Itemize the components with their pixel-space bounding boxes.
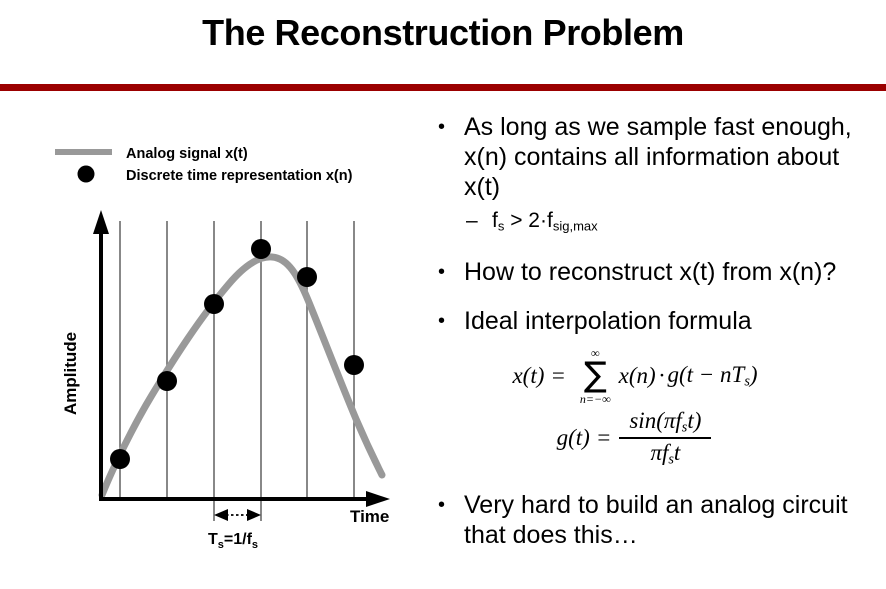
formula-xn: x(n)	[619, 363, 656, 389]
equals-sign: =	[596, 425, 612, 451]
bullet-item-very-hard: • Very hard to build an analog circuit t…	[432, 490, 882, 550]
bullet-marker: •	[432, 112, 464, 142]
sub-bullet-nyquist: – fs > 2·fsig,max	[432, 208, 882, 240]
kernel-lhs: g(t)	[557, 425, 590, 451]
sub-bullet-text: fs > 2·fsig,max	[492, 208, 882, 240]
denominator-tail: t	[674, 440, 680, 465]
sub-bullet-marker: –	[466, 208, 492, 234]
bullet-text: Very hard to build an analog circuit tha…	[464, 490, 882, 550]
sum-lower-limit: n=−∞	[580, 393, 611, 405]
fraction-denominator: πfst	[644, 439, 686, 469]
x-axis-title: Time	[350, 507, 389, 526]
legend-dot-marker	[78, 166, 95, 183]
analog-signal-curve	[102, 257, 382, 495]
page-title: The Reconstruction Problem	[0, 12, 886, 54]
y-axis	[93, 210, 109, 499]
kernel-tail: )	[750, 362, 758, 387]
legend-label-discrete: Discrete time representation x(n)	[126, 168, 353, 184]
sampling-period-label: Ts=1/fs	[208, 531, 258, 551]
formula-block: x(t) = ∞ ∑ n=−∞ x(n) · g(t − nTs) g(t) =…	[455, 348, 815, 488]
nyquist-fsig-subscript: sig,max	[553, 219, 598, 234]
sampling-period-annotation: Ts=1/fs	[208, 509, 261, 551]
bullet-item-how-to-reconstruct: • How to reconstruct x(t) from x(n)?	[432, 257, 882, 287]
bullet-text: Ideal interpolation formula	[464, 306, 882, 336]
spacer	[432, 248, 882, 257]
nyquist-relation: > 2·	[504, 209, 547, 232]
sigma-icon: ∑	[584, 359, 607, 391]
bullet-marker: •	[432, 490, 464, 520]
summation-operator: ∞ ∑ n=−∞	[580, 347, 611, 404]
formula-kernel-term: g(t − nTs)	[667, 362, 757, 391]
legend-label-analog: Analog signal x(t)	[126, 146, 248, 162]
denominator-lead: πf	[650, 440, 668, 465]
sampling-figure: Analog signal x(t) Discrete time represe…	[0, 110, 425, 589]
formula-lhs: x(t)	[512, 363, 544, 389]
sample-gridlines	[120, 221, 354, 521]
equals-sign: =	[550, 363, 566, 389]
figure-legend: Analog signal x(t) Discrete time represe…	[55, 146, 353, 184]
sample-dot	[110, 449, 130, 469]
bullet-text: As long as we sample fast enough, x(n) c…	[464, 112, 882, 202]
x-axis	[99, 491, 390, 507]
sample-dot	[251, 239, 271, 259]
interpolation-formula: x(t) = ∞ ∑ n=−∞ x(n) · g(t − nTs)	[455, 348, 815, 404]
bullet-list: • As long as we sample fast enough, x(n)…	[432, 112, 882, 556]
bullet-text: How to reconstruct x(t) from x(n)?	[464, 257, 882, 287]
spacer	[432, 293, 882, 306]
title-divider-rule	[0, 84, 886, 91]
bullet-item-sample-fast: • As long as we sample fast enough, x(n)…	[432, 112, 882, 202]
bullet-item-ideal-interpolation: • Ideal interpolation formula	[432, 306, 882, 336]
numerator-lead: sin(πf	[629, 408, 681, 433]
bullet-marker: •	[432, 257, 464, 287]
bullet-marker: •	[432, 306, 464, 336]
numerator-tail: t)	[687, 408, 701, 433]
sample-dot	[157, 371, 177, 391]
kernel-formula: g(t) = sin(πfst) πfst	[455, 408, 815, 468]
sample-dot	[344, 355, 364, 375]
kernel-lead: g(t − nT	[667, 362, 744, 387]
sample-dot	[204, 294, 224, 314]
sample-dot	[297, 267, 317, 287]
fraction-numerator: sin(πfst)	[623, 408, 707, 438]
multiplication-dot: ·	[659, 363, 665, 389]
kernel-fraction: sin(πfst) πfst	[619, 408, 711, 469]
y-axis-title: Amplitude	[61, 332, 80, 415]
